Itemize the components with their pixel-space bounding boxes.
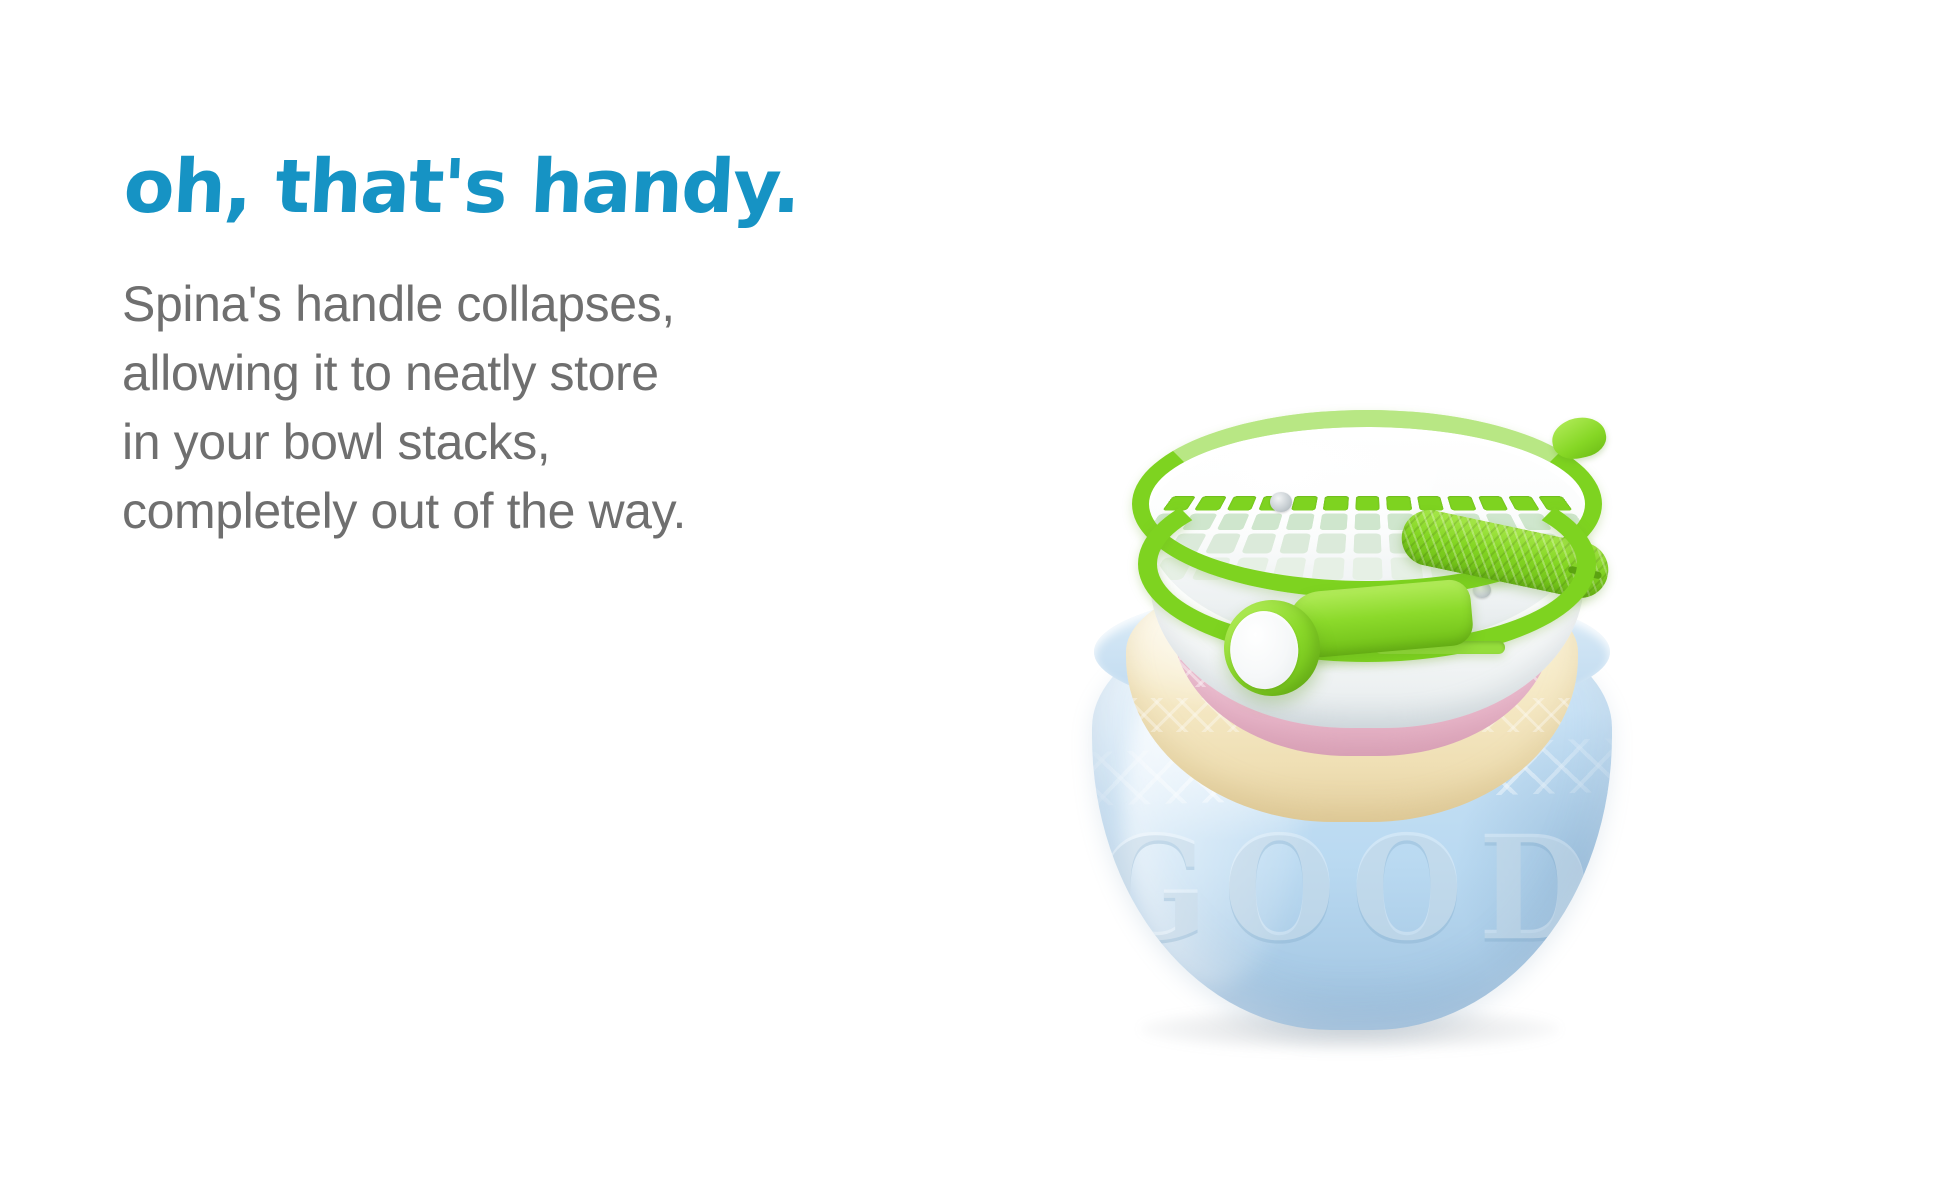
bowl-embossed-text: GOOD [1092, 805, 1612, 973]
page-root: oh, that's handy. Spina's handle collaps… [0, 0, 1940, 1200]
product-image: GOOD [1000, 400, 1700, 1100]
body-paragraph: Spina's handle collapses, allowing it to… [122, 270, 1022, 546]
green-colander-basket [1132, 410, 1602, 670]
page-headline: oh, that's handy. [122, 150, 1026, 224]
copy-block: oh, that's handy. Spina's handle collaps… [122, 150, 1022, 546]
body-line-3: in your bowl stacks, [122, 408, 1022, 477]
body-line-4: completely out of the way. [122, 477, 1022, 546]
handle-white-end-cap [1229, 610, 1300, 690]
body-line-1: Spina's handle collapses, [122, 270, 1022, 339]
body-line-2: allowing it to neatly store [122, 339, 1022, 408]
